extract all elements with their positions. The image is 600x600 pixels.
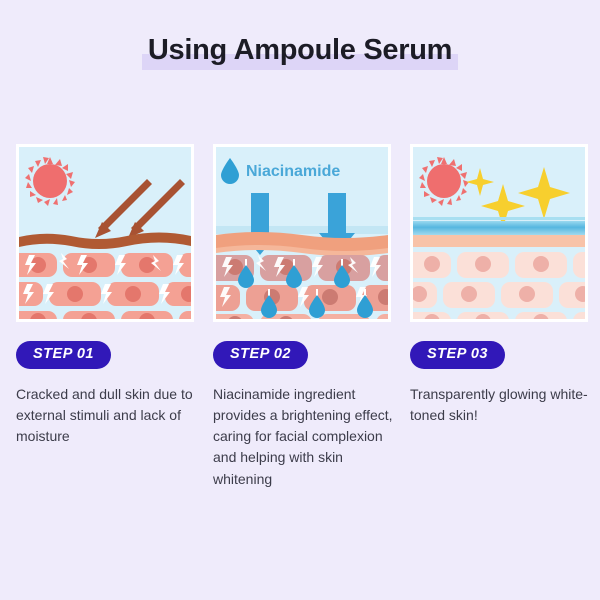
skin-surface	[413, 235, 585, 247]
barrier-glow	[413, 217, 585, 220]
step-column-1: STEP 01 Cracked and dull skin due to ext…	[16, 144, 194, 490]
step-caption-3: Transparently glowing white-toned skin!	[410, 384, 590, 427]
damaged-skin-illustration	[16, 144, 194, 322]
page-header: Using Ampoule Serum	[0, 30, 600, 72]
page-title-text: Using Ampoule Serum	[148, 34, 452, 66]
step-caption-1: Cracked and dull skin due to external st…	[16, 384, 196, 448]
step-column-2: Niacinamide	[213, 144, 391, 490]
steps-container: STEP 01 Cracked and dull skin due to ext…	[0, 144, 600, 490]
step-column-3: STEP 03 Transparently glowing white-tone…	[410, 144, 588, 490]
step-caption-2: Niacinamide ingredient provides a bright…	[213, 384, 393, 490]
step-badge-2: STEP 02	[213, 341, 308, 369]
step-badge-1: STEP 01	[16, 341, 111, 369]
niacinamide-absorption-illustration: Niacinamide	[213, 144, 391, 322]
protective-barrier	[413, 221, 585, 235]
page-title: Using Ampoule Serum	[142, 30, 458, 72]
glowing-skin-illustration	[410, 144, 588, 322]
ingredient-label: Niacinamide	[246, 163, 340, 180]
step-badge-3: STEP 03	[410, 341, 505, 369]
